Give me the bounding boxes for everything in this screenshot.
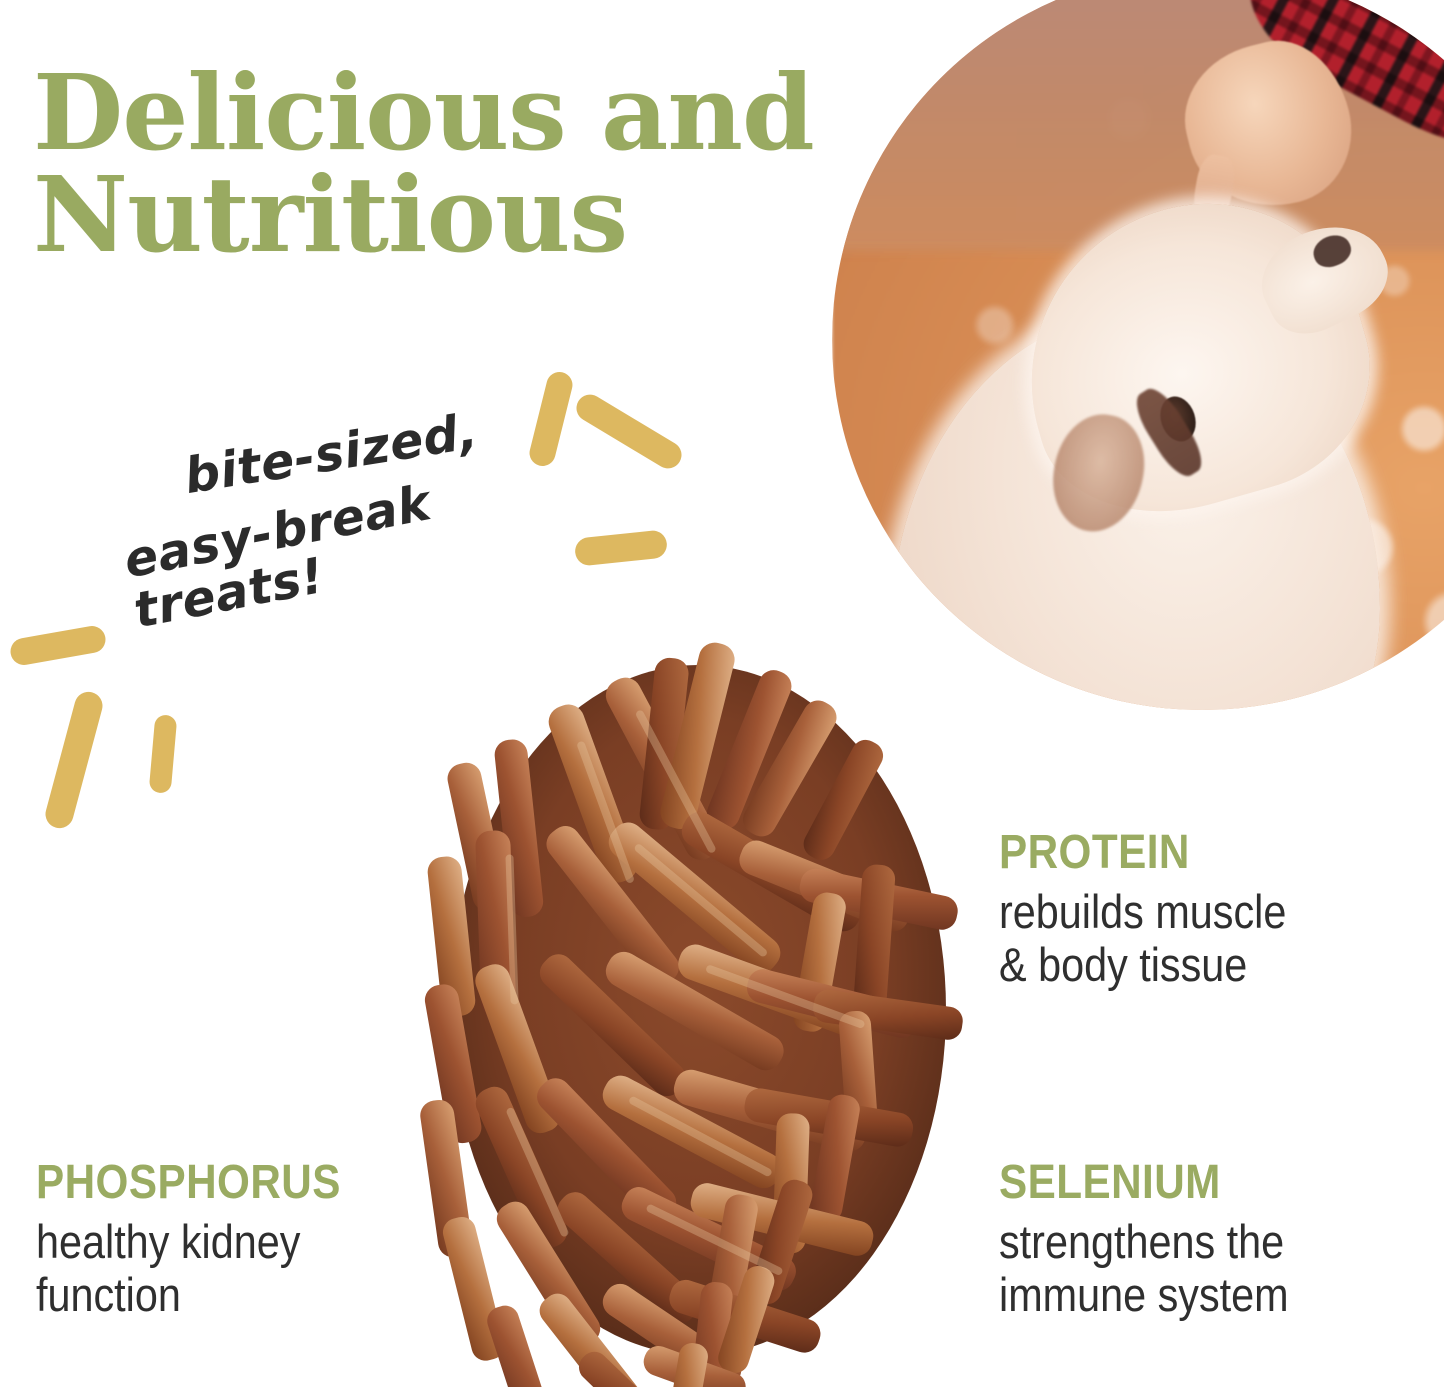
page-title: Delicious and Nutritious (33, 62, 833, 266)
nutrient-block-selenium: SELENIUM strengthens the immune system (999, 1158, 1439, 1322)
nutrient-desc-selenium: strengthens the immune system (999, 1216, 1386, 1321)
burst-stroke-icon (42, 689, 105, 831)
burst-stroke-icon (149, 714, 178, 794)
handwritten-callout: bite-sized, easy-break treats! (110, 382, 650, 630)
nutrient-title-protein: PROTEIN (999, 828, 1386, 878)
nutrient-desc-protein: rebuilds muscle & body tissue (999, 886, 1386, 991)
dog-photo-circle (832, 0, 1444, 710)
nutrient-title-selenium: SELENIUM (999, 1158, 1386, 1208)
nutrient-block-phosphorus: PHOSPHORUS healthy kidney function (36, 1158, 466, 1322)
nutrient-title-phosphorus: PHOSPHORUS (36, 1158, 414, 1208)
nutrient-block-protein: PROTEIN rebuilds muscle & body tissue (999, 828, 1439, 992)
treat-pile-image (418, 630, 978, 1387)
burst-stroke-icon (8, 624, 107, 667)
nutrient-desc-phosphorus: healthy kidney function (36, 1216, 414, 1321)
infographic-canvas: Delicious and Nutritious bite-sized, eas… (0, 0, 1444, 1387)
